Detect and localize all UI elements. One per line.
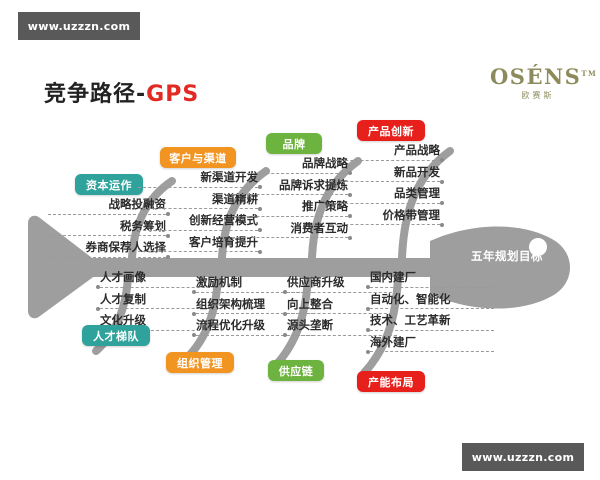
branch-label-organization[interactable]: 组织管理 (166, 352, 234, 373)
branch-items-talent: 人才画像 人才复制 文化升级 (100, 272, 210, 331)
diagram-canvas: www.uzzzn.com www.uzzzn.com 竞争路径-GPS OSÉ… (0, 0, 600, 480)
branch-label-capacity[interactable]: 产能布局 (357, 371, 425, 392)
item-product-1: 产品战略 (330, 145, 440, 161)
watermark-bottom: www.uzzzn.com (462, 443, 584, 471)
item-capacity-2: 自动化、智能化 (370, 294, 494, 310)
branch-items-capacity: 国内建厂 自动化、智能化 技术、工艺革新 海外建厂 (370, 272, 494, 352)
brand-logo-mark: OSÉNSTM (490, 64, 586, 89)
branch-label-capital[interactable]: 资本运作 (75, 174, 143, 195)
item-capacity-1: 国内建厂 (370, 272, 494, 288)
goal-label: 五年规划目标 (452, 248, 562, 264)
trademark-icon: TM (581, 69, 597, 78)
item-capacity-4: 海外建厂 (370, 337, 494, 353)
branch-label-product-innovation[interactable]: 产品创新 (357, 120, 425, 141)
branch-label-customer-channel[interactable]: 客户与渠道 (160, 147, 236, 168)
branch-label-brand[interactable]: 品牌 (266, 133, 322, 154)
watermark-top: www.uzzzn.com (18, 12, 140, 40)
item-product-2: 新品开发 (330, 167, 440, 183)
branch-label-talent[interactable]: 人才梯队 (82, 325, 150, 346)
brand-logo-wordmark: OSÉNS (490, 64, 581, 89)
item-capacity-3: 技术、工艺革新 (370, 315, 494, 331)
item-talent-1: 人才画像 (100, 272, 210, 288)
item-product-4: 价格带管理 (330, 210, 440, 226)
item-product-3: 品类管理 (330, 188, 440, 204)
branch-items-product-innovation: 产品战略 新品开发 品类管理 价格带管理 (330, 145, 440, 225)
item-customer-4: 客户培育提升 (138, 237, 258, 253)
branch-label-supply-chain[interactable]: 供应链 (268, 360, 324, 381)
item-talent-2: 人才复制 (100, 294, 210, 310)
